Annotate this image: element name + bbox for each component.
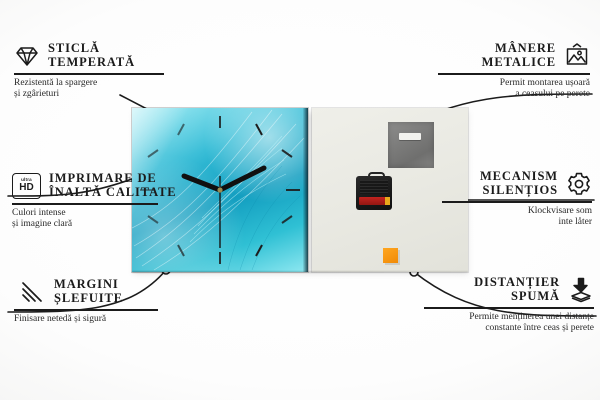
- hanger-slot: [399, 133, 421, 140]
- infographic-canvas: STICLĂ TEMPERATĂ Rezistentă la spargere …: [0, 0, 600, 400]
- clock-center-cap: [217, 187, 222, 192]
- minute-hand: [220, 168, 264, 190]
- callout-rule: [14, 73, 164, 75]
- callout-title: IMPRIMARE DE ÎNALTĂ CALITATE: [49, 172, 177, 199]
- callout-distantier-spuma: DISTANȚIER SPUMĂ Permite menținerea unei…: [424, 276, 594, 335]
- callout-rule: [12, 203, 158, 205]
- callout-header: MECANISM SILENȚIOS: [442, 170, 592, 197]
- ultra-hd-icon: ultra HD: [12, 173, 41, 199]
- metal-hanger-plate: [388, 122, 434, 168]
- glass-right-edge: [303, 108, 308, 272]
- callout-title: MECANISM SILENȚIOS: [480, 170, 558, 197]
- battery-terminal: [385, 197, 390, 205]
- callout-title: MÂNERE METALICE: [482, 42, 556, 69]
- hour-hand: [184, 176, 220, 190]
- callout-subtitle: Culori intense și imagine clară: [12, 208, 174, 231]
- callout-subtitle: Rezistentă la spargere și zgârieturi: [14, 78, 164, 101]
- callout-header: MARGINI ȘLEFUITE: [20, 278, 170, 305]
- callout-title: DISTANȚIER SPUMĂ: [474, 276, 560, 303]
- gear-icon: [566, 171, 592, 197]
- callout-rule: [14, 309, 158, 311]
- callout-subtitle: Permit montarea ușoară a ceasului pe per…: [438, 78, 590, 101]
- mechanism-ridges: [360, 180, 388, 194]
- callout-title: STICLĂ TEMPERATĂ: [48, 42, 135, 69]
- polished-edge-icon: [20, 279, 46, 305]
- callout-header: ultra HD IMPRIMARE DE ÎNALTĂ CALITATE: [12, 172, 174, 199]
- callout-subtitle: Permite menținerea unei distanțe constan…: [424, 312, 594, 335]
- clock-mechanism: [356, 172, 392, 210]
- foam-spacer: [383, 248, 398, 263]
- callout-mecanism-silentios: MECANISM SILENȚIOS Klockvisare som inte …: [442, 170, 592, 229]
- callout-sticla-temperata: STICLĂ TEMPERATĂ Rezistentă la spargere …: [14, 42, 164, 101]
- press-down-icon: [568, 277, 594, 303]
- callout-rule: [438, 73, 590, 75]
- callout-margini-slefuite: MARGINI ȘLEFUITE Finisare netedă și sigu…: [20, 278, 170, 325]
- diamond-icon: [14, 43, 40, 69]
- callout-header: DISTANȚIER SPUMĂ: [424, 276, 594, 303]
- callout-subtitle: Klockvisare som inte låter: [442, 206, 592, 229]
- callout-title: MARGINI ȘLEFUITE: [54, 278, 123, 305]
- callout-subtitle: Finisare netedă și sigură: [14, 314, 170, 326]
- callout-imprimare-inalta-calitate: ultra HD IMPRIMARE DE ÎNALTĂ CALITATE Cu…: [12, 172, 174, 231]
- callout-header: MÂNERE METALICE: [438, 42, 590, 69]
- product-image: [132, 108, 468, 272]
- product-baseline: [132, 271, 468, 273]
- callout-rule: [442, 201, 592, 203]
- callout-header: STICLĂ TEMPERATĂ: [14, 42, 164, 69]
- picture-hanger-icon: [564, 43, 590, 69]
- callout-rule: [424, 307, 594, 309]
- callout-manere-metalice: MÂNERE METALICE Permit montarea ușoară a…: [438, 42, 590, 101]
